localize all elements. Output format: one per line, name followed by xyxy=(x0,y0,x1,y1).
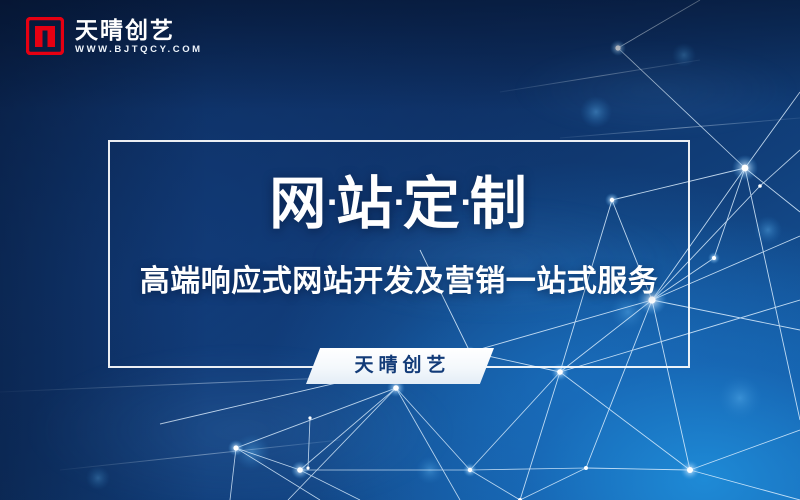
headline-separator-2: ▪ xyxy=(395,189,403,214)
network-edges-bottom xyxy=(230,372,586,500)
headline-separator-3: ▪ xyxy=(462,189,470,214)
headline-segment-4: 制 xyxy=(470,172,529,236)
ribbon-label: 天晴创艺 xyxy=(349,356,450,376)
logo-text-block: 天晴创艺 WWW.BJTQCY.COM xyxy=(75,18,203,55)
headline-segment-2: 站 xyxy=(336,172,395,236)
tianqing-square-logo-icon xyxy=(26,17,64,55)
brand-ribbon: 天晴创艺 xyxy=(306,348,494,384)
headline-title: 网▪站▪定▪制 xyxy=(108,170,690,242)
brand-logo[interactable]: 天晴创艺 WWW.BJTQCY.COM xyxy=(26,17,203,55)
logo-website-url: WWW.BJTQCY.COM xyxy=(75,45,203,55)
headline-separator-1: ▪ xyxy=(328,189,336,214)
logo-brand-name: 天晴创艺 xyxy=(75,18,203,43)
subheadline-text: 高端响应式网站开发及营销一站式服务 xyxy=(108,262,690,302)
headline-segment-3: 定 xyxy=(403,172,462,236)
banner-canvas: 天晴创艺 WWW.BJTQCY.COM 网▪站▪定▪制 高端响应式网站开发及营销… xyxy=(0,0,800,500)
headline-segment-1: 网 xyxy=(269,172,328,236)
